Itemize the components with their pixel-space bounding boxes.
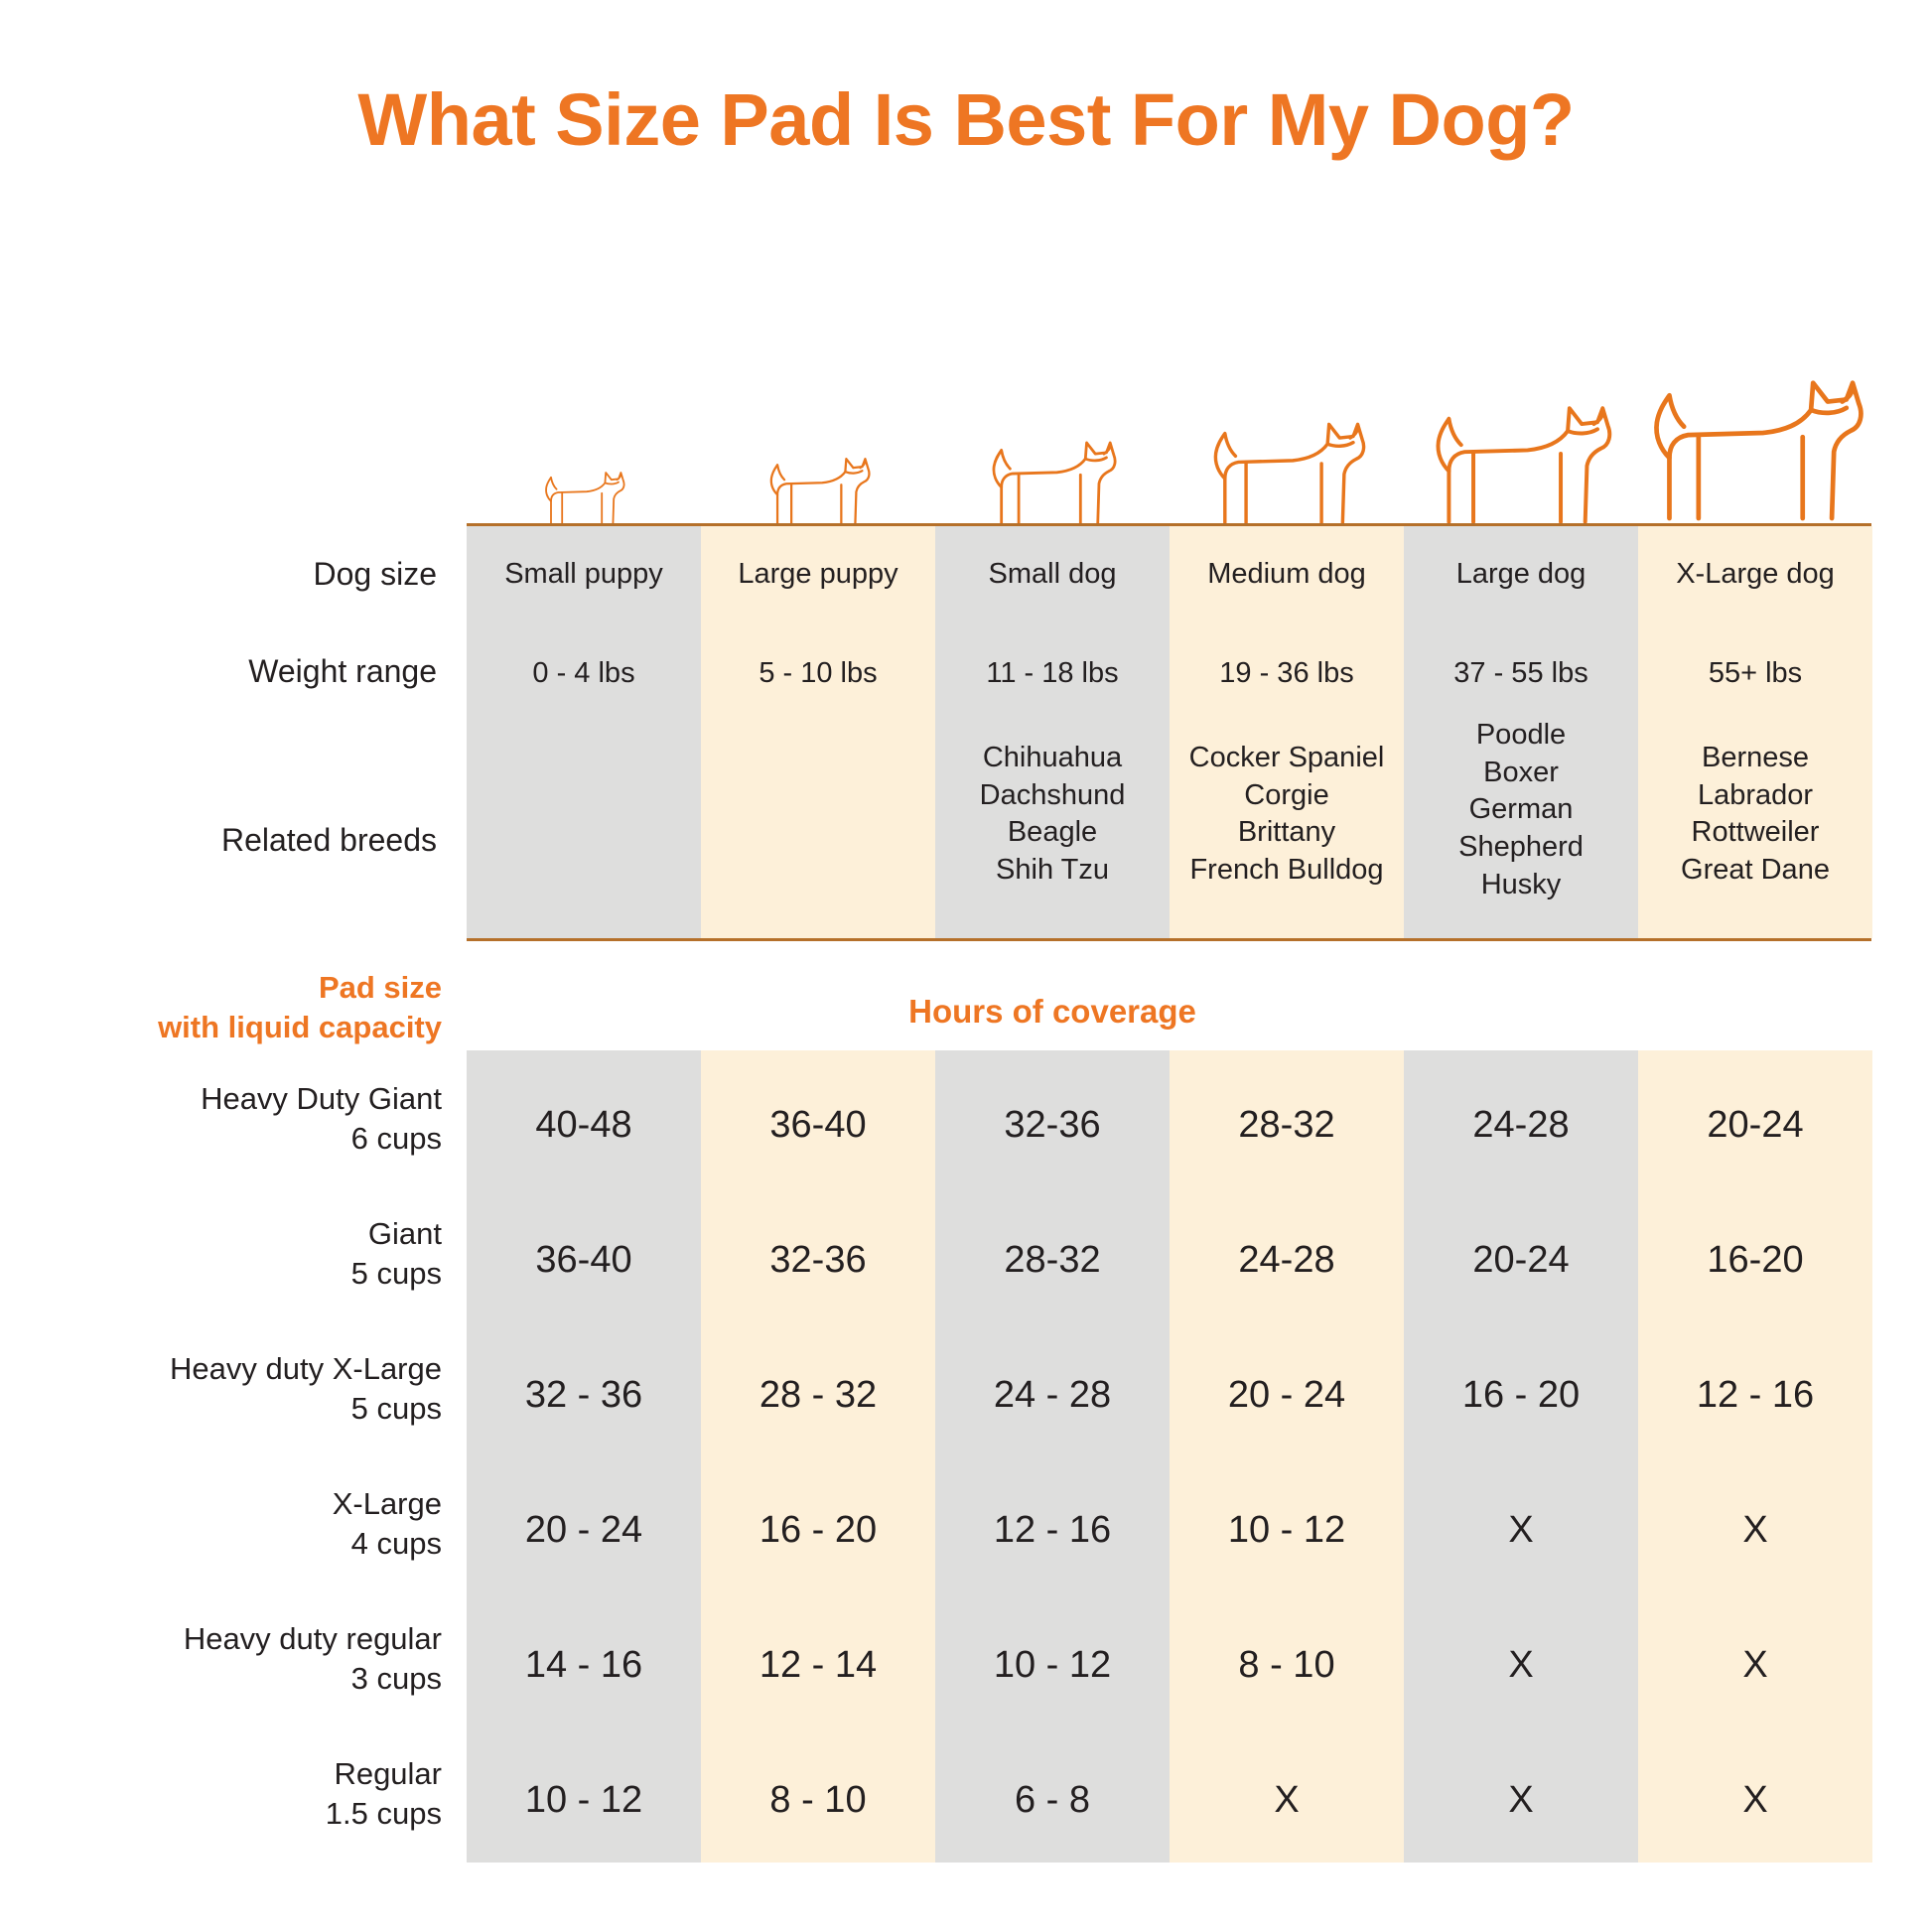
breed-name: Husky bbox=[1404, 867, 1638, 904]
cell-weight-range-5: 37 - 55 lbs bbox=[1404, 655, 1638, 693]
breed-name: Cocker Spaniel bbox=[1170, 740, 1404, 777]
data-column-band-3 bbox=[935, 1050, 1170, 1863]
text-line: Large puppy bbox=[701, 556, 935, 594]
text-line: Small dog bbox=[935, 556, 1170, 594]
dog-large-puppy-icon bbox=[701, 439, 935, 526]
dog-xlarge-icon bbox=[1638, 339, 1872, 526]
pad-size-label-1: Heavy Duty Giant6 cups bbox=[89, 1079, 442, 1158]
text-line: 0 - 4 lbs bbox=[467, 655, 701, 693]
coverage-cell-r5-c4: 8 - 10 bbox=[1170, 1644, 1404, 1687]
text-line: Medium dog bbox=[1170, 556, 1404, 594]
pad-size-label-2: Giant5 cups bbox=[89, 1214, 442, 1293]
coverage-cell-r2-c2: 32-36 bbox=[701, 1239, 935, 1282]
pad-size-capacity: 5 cups bbox=[89, 1389, 442, 1429]
coverage-cell-r5-c1: 14 - 16 bbox=[467, 1644, 701, 1687]
cell-dog-size-5: Large dog bbox=[1404, 556, 1638, 594]
cell-related-breeds-5: PoodleBoxerGermanShepherdHusky bbox=[1404, 717, 1638, 903]
coverage-cell-r4-c4: 10 - 12 bbox=[1170, 1509, 1404, 1552]
coverage-cell-r5-c2: 12 - 14 bbox=[701, 1644, 935, 1687]
coverage-cell-r3-c4: 20 - 24 bbox=[1170, 1374, 1404, 1417]
text-line: 11 - 18 lbs bbox=[935, 655, 1170, 693]
cell-dog-size-2: Large puppy bbox=[701, 556, 935, 594]
dog-small-icon bbox=[935, 418, 1170, 526]
cell-weight-range-3: 11 - 18 lbs bbox=[935, 655, 1170, 693]
breed-name: French Bulldog bbox=[1170, 852, 1404, 890]
coverage-cell-r6-c1: 10 - 12 bbox=[467, 1779, 701, 1822]
pad-size-capacity: 1.5 cups bbox=[89, 1794, 442, 1834]
data-column-band-4 bbox=[1170, 1050, 1404, 1863]
pad-size-capacity: 5 cups bbox=[89, 1254, 442, 1294]
coverage-cell-r3-c6: 12 - 16 bbox=[1638, 1374, 1872, 1417]
cell-related-breeds-3: ChihuahuaDachshundBeagleShih Tzu bbox=[935, 740, 1170, 890]
text-line: Large dog bbox=[1404, 556, 1638, 594]
breed-name: Shih Tzu bbox=[935, 852, 1170, 890]
pad-size-name: Giant bbox=[89, 1214, 442, 1254]
dog-medium-icon bbox=[1170, 394, 1404, 526]
pad-size-label-3: Heavy duty X-Large5 cups bbox=[89, 1349, 442, 1428]
cell-weight-range-1: 0 - 4 lbs bbox=[467, 655, 701, 693]
pad-size-label-4: X-Large4 cups bbox=[89, 1484, 442, 1563]
breed-name: Brittany bbox=[1170, 814, 1404, 852]
data-column-band-5 bbox=[1404, 1050, 1638, 1863]
coverage-cell-r6-c6: X bbox=[1638, 1779, 1872, 1822]
data-column-band-6 bbox=[1638, 1050, 1872, 1863]
coverage-cell-r6-c2: 8 - 10 bbox=[701, 1779, 935, 1822]
cell-dog-size-6: X-Large dog bbox=[1638, 556, 1872, 594]
coverage-cell-r2-c5: 20-24 bbox=[1404, 1239, 1638, 1282]
pad-size-name: Regular bbox=[89, 1754, 442, 1794]
coverage-cell-r2-c4: 24-28 bbox=[1170, 1239, 1404, 1282]
coverage-cell-r5-c6: X bbox=[1638, 1644, 1872, 1687]
bottom-table-bands bbox=[467, 1050, 1871, 1863]
text-line: 19 - 36 lbs bbox=[1170, 655, 1404, 693]
coverage-cell-r4-c1: 20 - 24 bbox=[467, 1509, 701, 1552]
breed-name: Dachshund bbox=[935, 777, 1170, 815]
cell-related-breeds-4: Cocker SpanielCorgieBrittanyFrench Bulld… bbox=[1170, 740, 1404, 890]
pad-size-heading-line2: with liquid capacity bbox=[99, 1008, 442, 1047]
coverage-cell-r6-c4: X bbox=[1170, 1779, 1404, 1822]
pad-size-capacity: 4 cups bbox=[89, 1524, 442, 1564]
breed-name: Great Dane bbox=[1638, 852, 1872, 890]
dog-small-puppy-icon bbox=[467, 457, 701, 526]
pad-size-heading: Pad size with liquid capacity bbox=[99, 968, 442, 1048]
coverage-cell-r2-c6: 16-20 bbox=[1638, 1239, 1872, 1282]
pad-size-capacity: 6 cups bbox=[89, 1119, 442, 1159]
page-title: What Size Pad Is Best For My Dog? bbox=[0, 77, 1932, 162]
cell-dog-size-4: Medium dog bbox=[1170, 556, 1404, 594]
coverage-cell-r4-c6: X bbox=[1638, 1509, 1872, 1552]
pad-size-label-5: Heavy duty regular3 cups bbox=[89, 1619, 442, 1698]
breed-name: Labrador bbox=[1638, 777, 1872, 815]
coverage-cell-r5-c5: X bbox=[1404, 1644, 1638, 1687]
row-label-weight-range: Weight range bbox=[119, 653, 437, 690]
breed-name: Beagle bbox=[935, 814, 1170, 852]
cell-weight-range-4: 19 - 36 lbs bbox=[1170, 655, 1404, 693]
text-line: Small puppy bbox=[467, 556, 701, 594]
cell-related-breeds-6: BerneseLabradorRottweilerGreat Dane bbox=[1638, 740, 1872, 890]
breed-name: Poodle bbox=[1404, 717, 1638, 755]
text-line: 37 - 55 lbs bbox=[1404, 655, 1638, 693]
pad-size-label-6: Regular1.5 cups bbox=[89, 1754, 442, 1833]
divider-mid bbox=[467, 938, 1871, 941]
pad-size-name: X-Large bbox=[89, 1484, 442, 1524]
text-line: X-Large dog bbox=[1638, 556, 1872, 594]
pad-size-heading-line1: Pad size bbox=[99, 968, 442, 1008]
breed-name: Chihuahua bbox=[935, 740, 1170, 777]
cell-weight-range-6: 55+ lbs bbox=[1638, 655, 1872, 693]
cell-weight-range-2: 5 - 10 lbs bbox=[701, 655, 935, 693]
coverage-cell-r5-c3: 10 - 12 bbox=[935, 1644, 1170, 1687]
coverage-cell-r3-c3: 24 - 28 bbox=[935, 1374, 1170, 1417]
cell-dog-size-1: Small puppy bbox=[467, 556, 701, 594]
coverage-cell-r3-c1: 32 - 36 bbox=[467, 1374, 701, 1417]
text-line: 5 - 10 lbs bbox=[701, 655, 935, 693]
data-column-band-2 bbox=[701, 1050, 935, 1863]
coverage-cell-r3-c2: 28 - 32 bbox=[701, 1374, 935, 1417]
breed-name: German bbox=[1404, 791, 1638, 829]
coverage-cell-r1-c6: 20-24 bbox=[1638, 1104, 1872, 1147]
coverage-cell-r1-c4: 28-32 bbox=[1170, 1104, 1404, 1147]
coverage-cell-r1-c2: 36-40 bbox=[701, 1104, 935, 1147]
infographic-page: What Size Pad Is Best For My Dog? bbox=[0, 0, 1932, 1932]
pad-size-name: Heavy duty regular bbox=[89, 1619, 442, 1659]
coverage-cell-r4-c3: 12 - 16 bbox=[935, 1509, 1170, 1552]
coverage-cell-r1-c1: 40-48 bbox=[467, 1104, 701, 1147]
breed-name: Shepherd bbox=[1404, 829, 1638, 867]
pad-size-name: Heavy Duty Giant bbox=[89, 1079, 442, 1119]
coverage-cell-r4-c5: X bbox=[1404, 1509, 1638, 1552]
breed-name: Rottweiler bbox=[1638, 814, 1872, 852]
dog-silhouette-strip bbox=[467, 278, 1871, 526]
breed-name: Boxer bbox=[1404, 755, 1638, 792]
coverage-cell-r2-c1: 36-40 bbox=[467, 1239, 701, 1282]
coverage-cell-r2-c3: 28-32 bbox=[935, 1239, 1170, 1282]
pad-size-capacity: 3 cups bbox=[89, 1659, 442, 1699]
cell-dog-size-3: Small dog bbox=[935, 556, 1170, 594]
breed-name: Bernese bbox=[1638, 740, 1872, 777]
row-label-dog-size: Dog size bbox=[119, 556, 437, 593]
text-line: 55+ lbs bbox=[1638, 655, 1872, 693]
coverage-cell-r6-c3: 6 - 8 bbox=[935, 1779, 1170, 1822]
coverage-cell-r6-c5: X bbox=[1404, 1779, 1638, 1822]
row-label-related-breeds: Related breeds bbox=[119, 822, 437, 859]
data-column-band-1 bbox=[467, 1050, 701, 1863]
coverage-cell-r3-c5: 16 - 20 bbox=[1404, 1374, 1638, 1417]
hours-of-coverage-heading: Hours of coverage bbox=[467, 993, 1638, 1031]
coverage-cell-r1-c3: 32-36 bbox=[935, 1104, 1170, 1147]
coverage-cell-r4-c2: 16 - 20 bbox=[701, 1509, 935, 1552]
dog-large-icon bbox=[1404, 373, 1638, 526]
pad-size-name: Heavy duty X-Large bbox=[89, 1349, 442, 1389]
coverage-cell-r1-c5: 24-28 bbox=[1404, 1104, 1638, 1147]
breed-name: Corgie bbox=[1170, 777, 1404, 815]
